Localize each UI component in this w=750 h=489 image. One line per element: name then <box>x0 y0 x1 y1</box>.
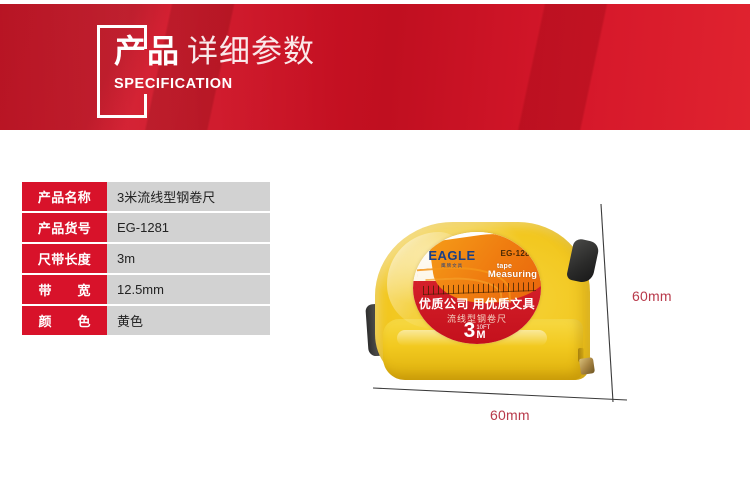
dimension-label-height: 60mm <box>632 288 672 304</box>
frame-right-bottom-segment <box>144 94 147 118</box>
spec-value-product-name: 3米流线型钢卷尺 <box>107 182 270 211</box>
spec-label-tape-length: 尺带长度 <box>22 244 107 273</box>
dimension-lines <box>355 185 735 435</box>
spec-label-tape-width: 带宽 <box>22 275 107 304</box>
spec-label-tape-width-text: 带宽 <box>39 280 91 299</box>
specification-table: 产品名称 3米流线型钢卷尺 产品货号 EG-1281 尺带长度 3m 带宽 12… <box>22 182 270 337</box>
dimension-line-vertical <box>601 204 613 402</box>
spec-label-color-text: 颜色 <box>39 311 91 330</box>
spec-value-product-code: EG-1281 <box>107 213 270 242</box>
page-subtitle: SPECIFICATION <box>114 76 315 92</box>
spec-value-color: 黄色 <box>107 306 270 335</box>
table-row: 产品货号 EG-1281 <box>22 213 270 242</box>
page-title-light: 详细参数 <box>187 34 315 69</box>
spec-value-tape-width: 12.5mm <box>107 275 270 304</box>
page-title: 产品详细参数 <box>114 35 315 67</box>
page-header-banner: 产品详细参数 SPECIFICATION <box>0 4 750 130</box>
page-title-bold: 产品 <box>114 33 180 69</box>
spec-label-color: 颜色 <box>22 306 107 335</box>
spec-value-tape-length: 3m <box>107 244 270 273</box>
dimension-label-width: 60mm <box>490 407 530 423</box>
table-row: 带宽 12.5mm <box>22 275 270 304</box>
banner-text-group: 产品详细参数 SPECIFICATION <box>114 35 315 92</box>
table-row: 产品名称 3米流线型钢卷尺 <box>22 182 270 211</box>
table-row: 颜色 黄色 <box>22 306 270 335</box>
spec-label-product-name: 产品名称 <box>22 182 107 211</box>
product-photo-area: EAGLE 鹰牌文具 EG-1281 tape Measuring 优质公司 用… <box>355 185 735 435</box>
table-row: 尺带长度 3m <box>22 244 270 273</box>
dimension-line-horizontal <box>373 388 627 400</box>
spec-label-product-code: 产品货号 <box>22 213 107 242</box>
